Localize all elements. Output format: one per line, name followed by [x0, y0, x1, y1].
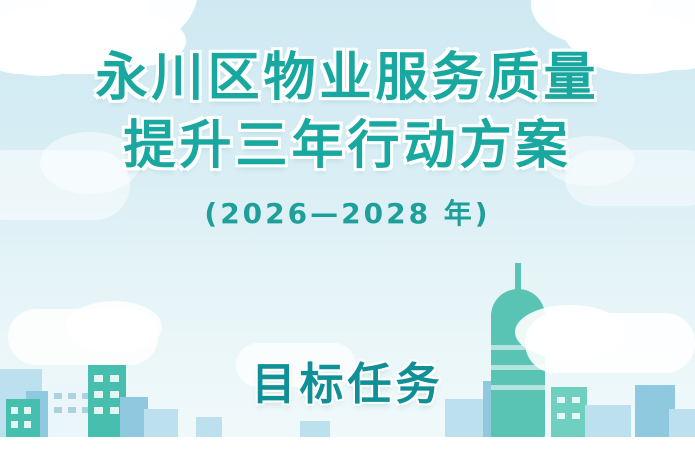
window-shape	[110, 391, 119, 398]
poster-title-block: 永川区物业服务质量 提升三年行动方案 (2026—2028 年)	[0, 44, 695, 232]
window-shape	[11, 421, 18, 428]
window-shape	[68, 407, 76, 413]
window-shape	[94, 391, 103, 398]
window-shape	[572, 413, 580, 419]
poster-title-line-1: 永川区物业服务质量	[0, 44, 695, 112]
window-shape	[110, 375, 119, 382]
cloud-shape	[66, 301, 162, 353]
window-shape	[24, 407, 31, 414]
window-shape	[54, 393, 62, 399]
window-shape	[94, 407, 103, 414]
building-shape	[144, 409, 178, 439]
cloud-shape	[515, 305, 625, 359]
window-shape	[24, 421, 31, 428]
window-shape	[11, 407, 18, 414]
window-shape	[557, 397, 565, 403]
window-shape	[94, 375, 103, 382]
window-shape	[110, 407, 119, 414]
building-shape	[196, 417, 222, 439]
window-shape	[557, 413, 565, 419]
window-shape	[68, 393, 76, 399]
building-shape	[585, 405, 631, 439]
window-shape	[572, 397, 580, 403]
poster-canvas: 永川区物业服务质量 提升三年行动方案 (2026—2028 年) 目标任务	[0, 0, 695, 457]
tower-band	[491, 385, 545, 390]
poster-subtitle-years: (2026—2028 年)	[0, 192, 695, 232]
building-shape	[445, 399, 485, 439]
building-shape	[6, 399, 40, 439]
ground-strip	[0, 437, 695, 457]
building-shape	[669, 409, 695, 439]
building-shape	[551, 387, 587, 439]
window-shape	[54, 407, 62, 413]
poster-title-line-2: 提升三年行动方案	[0, 112, 695, 180]
